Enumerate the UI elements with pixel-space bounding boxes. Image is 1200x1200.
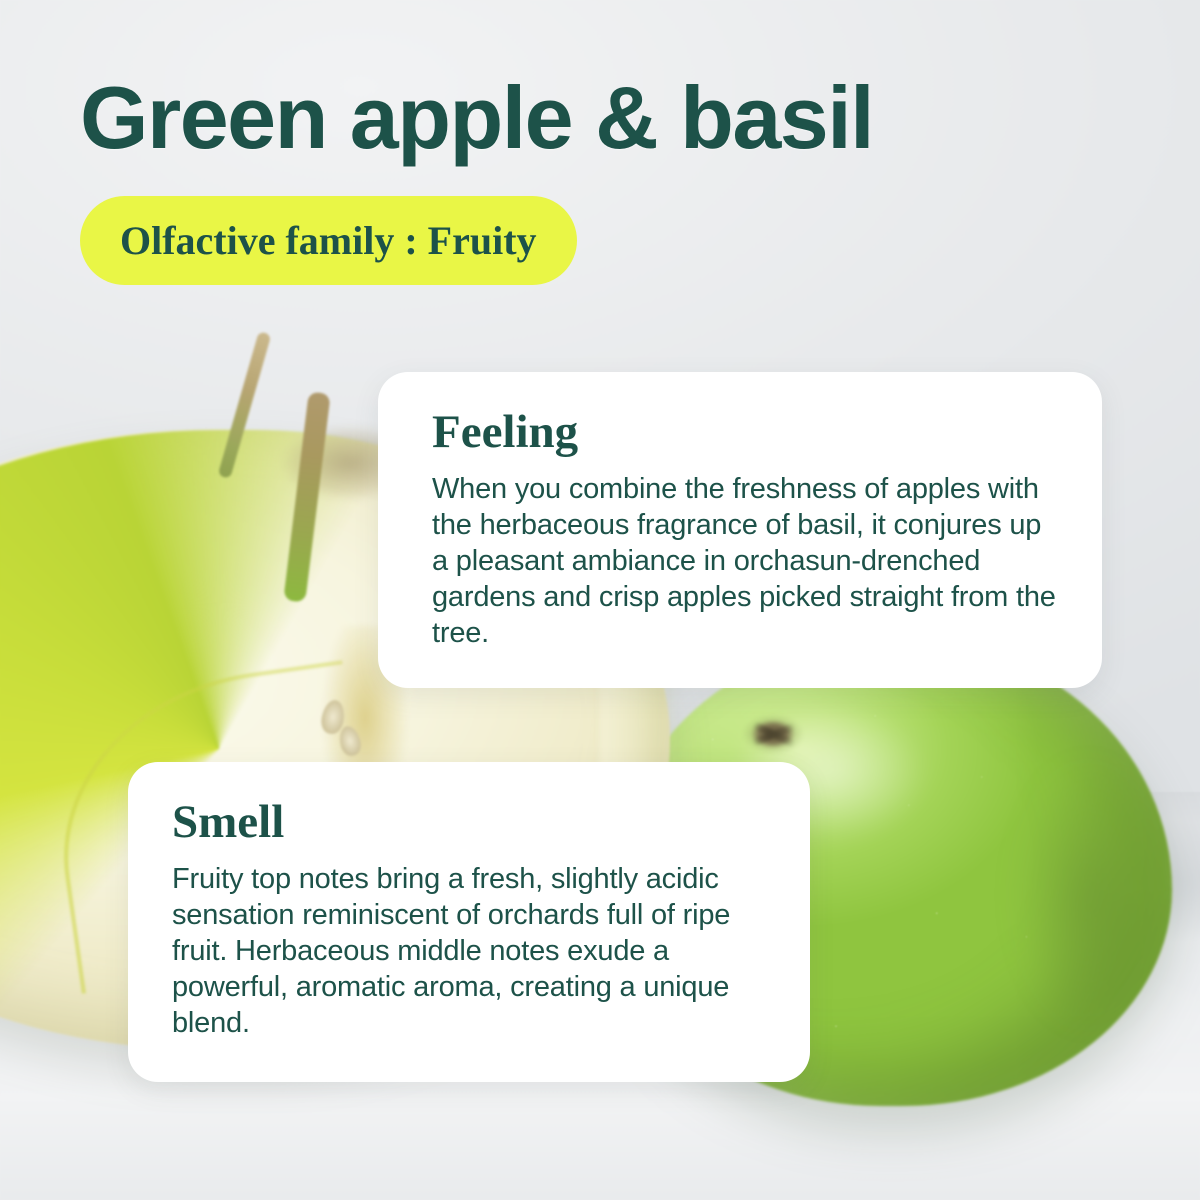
page-title: Green apple & basil <box>80 74 873 162</box>
poster: Green apple & basil Olfactive family : F… <box>0 0 1200 1200</box>
feeling-card-heading: Feeling <box>432 408 1062 457</box>
smell-card-body: Fruity top notes bring a fresh, slightly… <box>172 861 770 1041</box>
olfactive-family-label: Olfactive family : Fruity <box>120 221 537 261</box>
olfactive-family-badge: Olfactive family : Fruity <box>80 196 577 285</box>
feeling-card: Feeling When you combine the freshness o… <box>378 372 1102 688</box>
feeling-card-body: When you combine the freshness of apples… <box>432 471 1062 651</box>
smell-card: Smell Fruity top notes bring a fresh, sl… <box>128 762 810 1082</box>
smell-card-heading: Smell <box>172 798 770 847</box>
apple-calyx-icon <box>742 714 804 754</box>
